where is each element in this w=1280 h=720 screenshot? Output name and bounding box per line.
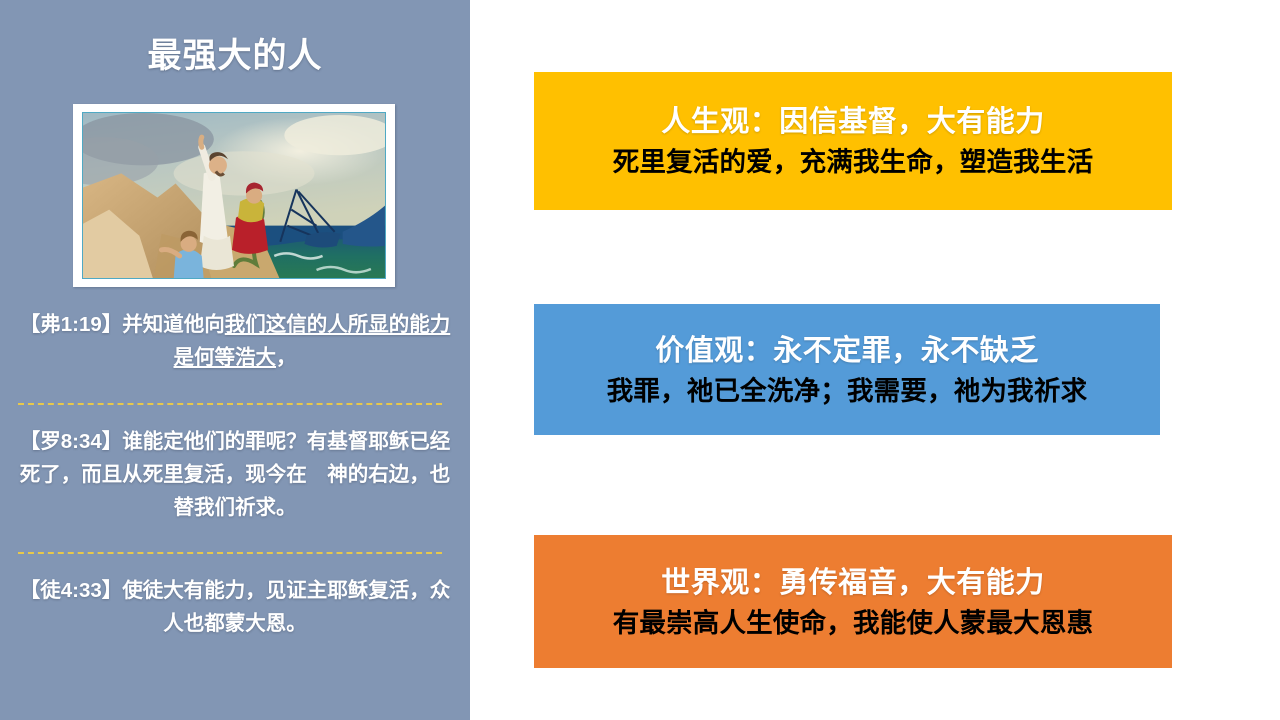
panel-life-view-heading: 人生观：因信基督，大有能力 [661, 101, 1045, 143]
verse-1-ref: 【弗1:19】 [20, 313, 123, 336]
divider-line-1 [18, 403, 442, 405]
panel-life-view-subtext: 死里复活的爱，充满我生命，塑造我生活 [613, 143, 1094, 181]
verse-romans: 【罗8:34】谁能定他们的罪呢？有基督耶稣已经死了，而且从死里复活，现今在 神的… [14, 425, 456, 524]
page-title: 最强大的人 [0, 34, 470, 78]
illustration-inner-border [82, 112, 386, 279]
panel-world-view-heading: 世界观：勇传福音，大有能力 [661, 562, 1045, 604]
divider-line-2 [18, 552, 442, 554]
painting-image [83, 113, 385, 279]
verse-1-plain-after: ， [276, 346, 297, 369]
panel-world-view: 世界观：勇传福音，大有能力 有最崇高人生使命，我能使人蒙最大恩惠 [534, 535, 1172, 668]
illustration-frame [73, 104, 395, 287]
verse-acts: 【徒4:33】使徒大有能力，见证主耶稣复活，众人也都蒙大恩。 [14, 574, 456, 640]
panel-value-view: 价值观：永不定罪，永不缺乏 我罪，祂已全洗净；我需要，祂为我祈求 [534, 304, 1160, 435]
panel-value-view-subtext: 我罪，祂已全洗净；我需要，祂为我祈求 [607, 372, 1088, 410]
sidebar-panel: 最强大的人 [0, 0, 470, 720]
presentation-slide: 最强大的人 [0, 0, 1280, 720]
panel-value-view-heading: 价值观：永不定罪，永不缺乏 [655, 330, 1039, 372]
panel-life-view: 人生观：因信基督，大有能力 死里复活的爱，充满我生命，塑造我生活 [534, 72, 1172, 210]
verse-1-plain-before: 并知道他向 [122, 313, 225, 336]
panel-world-view-subtext: 有最崇高人生使命，我能使人蒙最大恩惠 [613, 604, 1094, 642]
verse-ephesians: 【弗1:19】并知道他向我们这信的人所显的能力是何等浩大， [14, 308, 456, 374]
